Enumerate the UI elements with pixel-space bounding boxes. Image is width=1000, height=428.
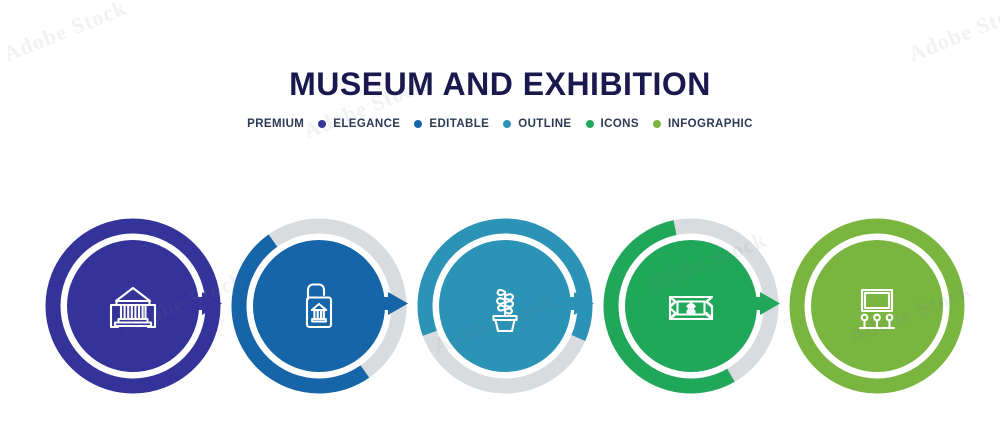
legend-label: OUTLINE [518,118,571,130]
infographic-page: MUSEUM AND EXHIBITION PREMIUMELEGANCEEDI… [0,0,1000,428]
legend-dot-icons [586,120,594,128]
arrow-2 [362,292,420,326]
steps-row [0,218,1000,398]
step-5[interactable] [789,218,965,394]
legend-label: ELEGANCE [333,118,400,130]
legend-item-outline: OUTLINE [489,118,571,130]
header: MUSEUM AND EXHIBITION PREMIUMELEGANCEEDI… [0,0,1000,130]
legend-item-premium: PREMIUM [247,118,304,130]
page-title: MUSEUM AND EXHIBITION [0,0,1000,100]
legend-label: EDITABLE [429,118,489,130]
arrow-right-icon [176,292,234,326]
legend-dot-elegance [318,120,326,128]
arrow-right-icon [548,292,606,326]
legend-label: PREMIUM [247,118,304,130]
arrow-right-icon [734,292,792,326]
arrow-1 [176,292,234,326]
legend-label: ICONS [601,118,639,130]
legend-item-icons: ICONS [572,118,639,130]
arrow-4 [734,292,792,326]
legend-dot-outline [503,120,511,128]
legend-dot-infographic [653,120,661,128]
legend: PREMIUMELEGANCEEDITABLEOUTLINEICONSINFOG… [0,118,1000,130]
framed-picture-barrier-icon [811,240,943,372]
arrow-3 [548,292,606,326]
legend-label: INFOGRAPHIC [668,118,753,130]
legend-item-elegance: ELEGANCE [304,118,400,130]
legend-item-infographic: INFOGRAPHIC [639,118,753,130]
legend-dot-editable [414,120,422,128]
legend-item-editable: EDITABLE [400,118,489,130]
arrow-right-icon [362,292,420,326]
